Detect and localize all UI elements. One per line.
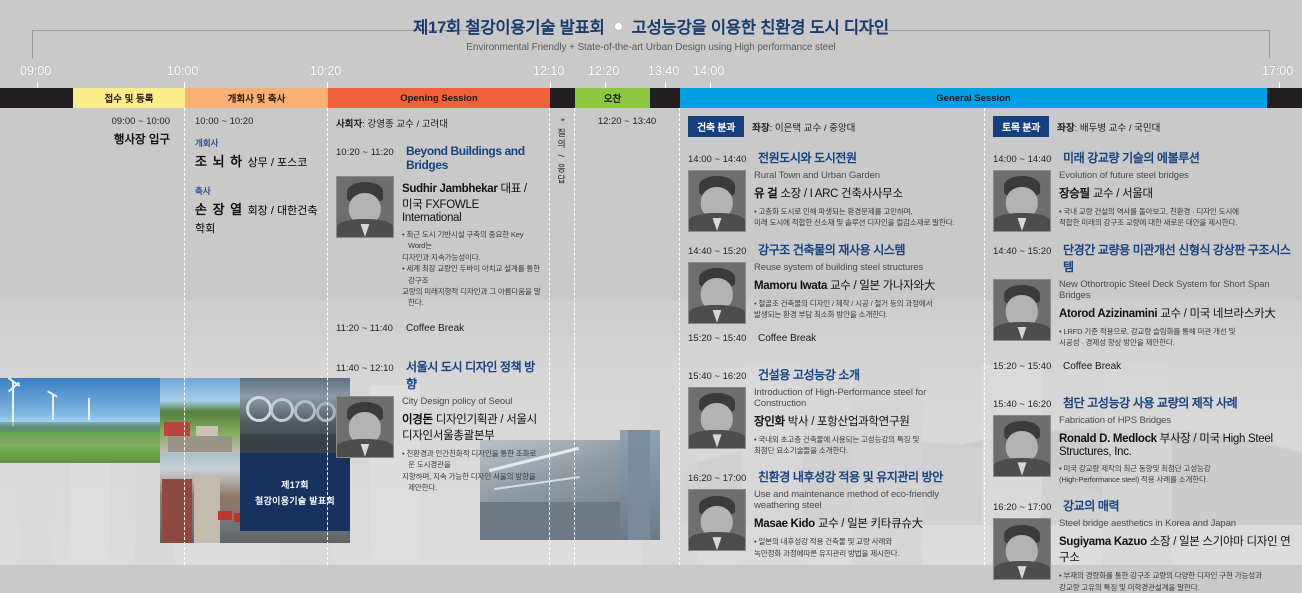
session-bullet: 교량의 미래지향적 디자인과 그 아름다움을 말한다. <box>402 286 541 309</box>
session-title-ko: Coffee Break <box>406 323 464 334</box>
opening-session-items: 10:20 ~ 11:20Beyond Buildings and Bridge… <box>336 144 541 493</box>
session-time: 11:40 ~ 12:10 <box>336 363 398 374</box>
session-item: 11:20 ~ 11:40Coffee Break <box>336 323 541 334</box>
speaker-affiliation: 미국 FXFOWLE International <box>402 196 541 224</box>
colorbar-segment-label: Opening Session <box>400 93 478 104</box>
session-bullet: • 세계 최장 교량인 두바이 아치교 설계를 통한 강구조 <box>402 263 541 286</box>
speaker-name: Sudhir Jambhekar <box>402 183 498 195</box>
civil-badge: 토목 분과 <box>993 116 1049 137</box>
column-registration: 09:00 ~ 10:00 행사장 입구 <box>0 108 185 565</box>
registration-time: 09:00 ~ 10:00 <box>0 116 170 127</box>
session-speaker: Mamoru Iwata 교수 / 일본 가나자와大 <box>754 277 978 293</box>
speaker-portrait <box>336 176 394 238</box>
remarks-item-1: 축사 손 장 열 회장 / 대한건축학회 <box>195 185 327 237</box>
lunch-time: 12:20 ~ 13:40 <box>575 116 679 127</box>
session-bullet: 최첨단 요소기술들을 소개한다. <box>754 445 978 456</box>
session-time: 16:20 ~ 17:00 <box>993 502 1055 513</box>
session-item: 14:40 ~ 15:20단경간 교량용 미관개선 신형식 강상판 구조시스템N… <box>993 241 1298 349</box>
session-colorbar: 접수 및 등록개회사 및 축사Opening Session오찬General … <box>0 88 1302 108</box>
column-opening-remarks: 10:00 ~ 10:20 개회사 조 뇌 하 상무 / 포스코 축사 손 장 … <box>185 108 328 565</box>
session-item: 15:20 ~ 15:40Coffee Break <box>993 361 1298 372</box>
colorbar-segment-label: General Session <box>936 93 1010 104</box>
session-speaker: Atorod Azizinamini 교수 / 미국 네브라스카大 <box>1059 305 1298 321</box>
session-bullet: 강교량 고유의 특징 및 미학경관설계을 말한다. <box>1059 582 1298 593</box>
title-second: 고성능강을 이용한 친환경 도시 디자인 <box>632 14 889 38</box>
session-title-ko: Coffee Break <box>1063 361 1121 372</box>
speaker-portrait <box>993 279 1051 341</box>
session-item: 11:40 ~ 12:10서울시 도시 디자인 정책 방향City Design… <box>336 358 541 494</box>
session-speaker: Masae Kido 교수 / 일본 키타큐슈大 <box>754 515 978 531</box>
session-speaker: 유 걸 소장 / I ARC 건축사사무소 <box>754 185 978 201</box>
session-item: 10:20 ~ 11:20Beyond Buildings and Bridge… <box>336 144 541 309</box>
ruler-tick-1400: 14:00 <box>693 64 724 78</box>
session-item: 16:20 ~ 17:00친환경 내후성강 적용 및 유지관리 방안Use an… <box>688 468 978 559</box>
remarks-role-0: 개회사 <box>195 137 327 149</box>
speaker-portrait <box>993 170 1051 232</box>
session-bullets: • 국내외 초고층 건축물에 사용되는 고성능강의 특징 및 최첨단 요소기술들… <box>754 434 978 457</box>
title-wrap: 제17회 철강이용기술 발표회 고성능강을 이용한 친환경 도시 디자인 Env… <box>0 14 1302 53</box>
session-title-en: Introduction of High-Performance steel f… <box>754 387 978 409</box>
session-title-en: Fabrication of HPS Bridges <box>1059 415 1298 426</box>
session-time: 16:20 ~ 17:00 <box>688 473 750 484</box>
speaker-name: 장승필 <box>1059 188 1090 200</box>
session-bullet: 시공성 · 경제성 향상 방안을 제안한다. <box>1059 337 1298 348</box>
speaker-name: 이경돈 <box>402 414 433 426</box>
session-bullet: 지향하며, 지속 가능한 디자인 서울의 방향을 제안한다. <box>402 471 541 494</box>
column-opening-session: 사회자: 강영종 교수 / 고려대 10:20 ~ 11:20Beyond Bu… <box>328 108 550 565</box>
speaker-title: 박사 / 포항산업과학연구원 <box>788 416 910 428</box>
session-item: 14:00 ~ 14:40전원도시와 도시전원Rural Town and Ur… <box>688 149 978 229</box>
speaker-name: Sugiyama Kazuo <box>1059 536 1147 548</box>
remarks-item-0: 개회사 조 뇌 하 상무 / 포스코 <box>195 137 327 171</box>
session-title-en: Rural Town and Urban Garden <box>754 170 978 181</box>
arch-chair: 좌장: 이은택 교수 / 중앙대 <box>752 120 855 134</box>
session-speaker: 장승필 교수 / 서울대 <box>1059 185 1298 201</box>
session-title-ko: 단경간 교량용 미관개선 신형식 강상판 구조시스템 <box>1063 241 1298 275</box>
time-ruler: 09:0010:0010:2012:1012:2013:4014:0017:00 <box>0 64 1302 88</box>
speaker-title: 교수 / 미국 네브라스카大 <box>1160 308 1275 320</box>
session-bullet: 미래 도시에 적합한 신소재 및 솔루션 디자인을 컬감소재로 말한다. <box>754 217 978 228</box>
qa-label: * 질의 / 응답 <box>556 118 568 186</box>
session-title-ko: 첨단 고성능강 사용 교량의 제작 사례 <box>1063 394 1237 411</box>
speaker-name: 유 걸 <box>754 188 777 200</box>
session-item: 15:40 ~ 16:20첨단 고성능강 사용 교량의 제작 사례Fabrica… <box>993 394 1298 486</box>
colorbar-segment-spacer-0 <box>0 88 73 108</box>
session-speaker: 장인화 박사 / 포항산업과학연구원 <box>754 413 978 429</box>
speaker-title: 교수 / 일본 가나자와大 <box>830 280 935 292</box>
colorbar-segment-label: 접수 및 등록 <box>105 91 154 105</box>
session-title-ko: Beyond Buildings and Bridges <box>406 144 541 172</box>
registration-label: 행사장 입구 <box>0 131 170 147</box>
session-title-ko: 서울시 도시 디자인 정책 방향 <box>406 358 541 392</box>
arch-badge: 건축 분과 <box>688 116 744 137</box>
session-bullet: 디자인과 지속가능성이다. <box>402 252 541 263</box>
remarks-title-0: 상무 / 포스코 <box>248 157 308 169</box>
session-time: 15:40 ~ 16:20 <box>993 399 1055 410</box>
ruler-tick-0900: 09:00 <box>20 64 51 78</box>
colorbar-segment-3: Opening Session <box>328 88 550 108</box>
speaker-portrait <box>993 415 1051 477</box>
civil-chair-value: : 배두병 교수 / 국민대 <box>1075 123 1161 134</box>
session-time: 11:20 ~ 11:40 <box>336 323 398 334</box>
speaker-name: Mamoru Iwata <box>754 280 827 292</box>
moderator-row: 사회자: 강영종 교수 / 고려대 <box>336 116 541 130</box>
session-bullet: • 미국 강교량 제작의 최근 동향및 최첨단 고성능강 <box>1059 463 1298 474</box>
speaker-portrait <box>336 396 394 458</box>
session-speaker: 이경돈 디자인기획관 / 서울시 디자인서울총괄본부 <box>402 411 541 443</box>
session-title-ko: Coffee Break <box>758 333 816 344</box>
speaker-title: 대표 / <box>500 183 526 195</box>
remarks-role-1: 축사 <box>195 185 327 197</box>
session-speaker: Sudhir Jambhekar 대표 / <box>402 180 541 196</box>
session-bullet: 발생되는 환경 부담 최소화 방안을 소개한다. <box>754 309 978 320</box>
session-item: 14:40 ~ 15:20강구조 건축물의 재사용 시스템Reuse syste… <box>688 241 978 321</box>
speaker-portrait <box>688 262 746 324</box>
session-bullet: • 철골조 건축물의 디자인 / 제작 / 시공 / 철거 등의 과정에서 <box>754 298 978 309</box>
session-bullet: • 부재의 경량화를 통한 강구조 교량의 다양한 디자인 구현 가능성과 <box>1059 570 1298 581</box>
session-bullets: • 철골조 건축물의 디자인 / 제작 / 시공 / 철거 등의 과정에서 발생… <box>754 298 978 321</box>
remarks-name-0: 조 뇌 하 <box>195 154 243 169</box>
session-bullets: • LRFD 기준 적용으로, 강교량 슬림화를 통해 미관 개선 및 시공성 … <box>1059 326 1298 349</box>
session-time: 15:40 ~ 16:20 <box>688 371 750 382</box>
speaker-portrait <box>688 170 746 232</box>
remarks-time: 10:00 ~ 10:20 <box>195 116 327 127</box>
session-title-en: Reuse system of building steel structure… <box>754 262 978 273</box>
column-architecture: 건축 분과 좌장: 이은택 교수 / 중앙대 14:00 ~ 14:40전원도시… <box>680 108 985 565</box>
civil-items: 14:00 ~ 14:40미래 강교량 기술의 에볼루션Evolution of… <box>993 149 1298 593</box>
session-title-ko: 미래 강교량 기술의 에볼루션 <box>1063 149 1199 166</box>
session-bullet: 녹안정화 과정에따른 유지관리 방법을 제시한다. <box>754 548 978 559</box>
speaker-portrait <box>688 489 746 551</box>
session-time: 14:00 ~ 14:40 <box>688 154 750 165</box>
page-title: 제17회 철강이용기술 발표회 고성능강을 이용한 친환경 도시 디자인 <box>413 14 889 38</box>
speaker-name: Masae Kido <box>754 518 815 530</box>
session-bullets: • 미국 강교량 제작의 최근 동향및 최첨단 고성능강 (High-Perfo… <box>1059 463 1298 486</box>
bullet-dot-icon <box>614 22 623 31</box>
session-speaker: Sugiyama Kazuo 소장 / 일본 스기야마 디자인 연구소 <box>1059 533 1298 565</box>
session-item: 14:00 ~ 14:40미래 강교량 기술의 에볼루션Evolution of… <box>993 149 1298 229</box>
session-title-en: Evolution of future steel bridges <box>1059 170 1298 181</box>
session-bullet: • 국내 교량 건설의 역사를 돌아보고, 친환경 · 디자인 도시에 <box>1059 206 1298 217</box>
colorbar-segment-spacer-8 <box>1267 88 1302 108</box>
session-item: 15:20 ~ 15:40Coffee Break <box>688 333 978 344</box>
session-time: 15:20 ~ 15:40 <box>993 361 1055 372</box>
colorbar-segment-2: 개회사 및 축사 <box>185 88 328 108</box>
civil-header: 토목 분과 좌장: 배두병 교수 / 국민대 <box>993 116 1298 137</box>
session-title-ko: 건설용 고성능강 소개 <box>758 366 860 383</box>
speaker-title: 소장 / I ARC 건축사사무소 <box>780 188 902 200</box>
ruler-tick-1220: 12:20 <box>588 64 619 78</box>
session-bullet: • 국내외 초고층 건축물에 사용되는 고성능강의 특징 및 <box>754 434 978 445</box>
ruler-tick-1700: 17:00 <box>1262 64 1293 78</box>
arch-header: 건축 분과 좌장: 이은택 교수 / 중앙대 <box>688 116 978 137</box>
ruler-tick-1210: 12:10 <box>533 64 564 78</box>
civil-chair-label: 좌장 <box>1057 123 1074 134</box>
civil-chair: 좌장: 배두병 교수 / 국민대 <box>1057 120 1160 134</box>
session-time: 10:20 ~ 11:20 <box>336 147 398 158</box>
session-bullets: • 부재의 경량화를 통한 강구조 교량의 다양한 디자인 구현 가능성과 강교… <box>1059 570 1298 593</box>
session-bullet: • 친환경과 인간친화적 디자인을 통한 조화로운 도시경관을 <box>402 448 541 471</box>
remarks-name-1: 손 장 열 <box>195 202 243 217</box>
moderator-value: : 강영종 교수 / 고려대 <box>362 119 448 130</box>
session-title-ko: 친환경 내후성강 적용 및 유지관리 방안 <box>758 468 943 485</box>
ruler-tick-1020: 10:20 <box>310 64 341 78</box>
session-bullet: (High-Performance steel) 적용 사례를 소개한다. <box>1059 474 1298 485</box>
colorbar-segment-spacer-6 <box>650 88 680 108</box>
session-time: 15:20 ~ 15:40 <box>688 333 750 344</box>
colorbar-segment-label: 개회사 및 축사 <box>228 91 286 105</box>
session-bullets: • 국내 교량 건설의 역사를 돌아보고, 친환경 · 디자인 도시에 적합한 … <box>1059 206 1298 229</box>
colorbar-segment-label: 오찬 <box>604 91 621 105</box>
speaker-portrait <box>688 387 746 449</box>
session-bullets: • 최근 도시 기반시설 구축의 중요한 Key Word는 디자인과 지속가능… <box>402 229 541 309</box>
session-title-en: Steel bridge aesthetics in Korea and Jap… <box>1059 518 1298 529</box>
colorbar-segment-spacer-4 <box>550 88 575 108</box>
page-subtitle: Environmental Friendly + State-of-the-ar… <box>0 42 1302 53</box>
column-lunch: 12:20 ~ 13:40 <box>575 108 680 565</box>
session-title-en: Use and maintenance method of eco-friend… <box>754 489 978 511</box>
session-time: 14:40 ~ 15:20 <box>688 246 750 257</box>
architecture-items: 14:00 ~ 14:40전원도시와 도시전원Rural Town and Ur… <box>688 149 978 559</box>
session-speaker: Ronald D. Medlock 부사장 / 미국 High Steel St… <box>1059 430 1298 458</box>
colorbar-segment-1: 접수 및 등록 <box>73 88 185 108</box>
session-bullets: • 친환경과 인간친화적 디자인을 통한 조화로운 도시경관을 지향하며, 지속… <box>402 448 541 494</box>
session-title-en: New Othortropic Steel Deck System for Sh… <box>1059 279 1298 301</box>
session-bullet: • 고층화 도시로 인해 파생되는 환경문제를 고민하며, <box>754 206 978 217</box>
session-item: 16:20 ~ 17:00강교의 매력Steel bridge aestheti… <box>993 497 1298 593</box>
ruler-tick-1000: 10:00 <box>167 64 198 78</box>
session-title-en: City Design policy of Seoul <box>402 396 541 407</box>
session-time: 14:00 ~ 14:40 <box>993 154 1055 165</box>
poster-header: 제17회 철강이용기술 발표회 고성능강을 이용한 친환경 도시 디자인 Env… <box>0 0 1302 62</box>
session-bullet: • 최근 도시 기반시설 구축의 중요한 Key Word는 <box>402 229 541 252</box>
arch-chair-label: 좌장 <box>752 123 769 134</box>
session-title-ko: 전원도시와 도시전원 <box>758 149 857 166</box>
schedule-columns: 09:00 ~ 10:00 행사장 입구 10:00 ~ 10:20 개회사 조… <box>0 108 1302 565</box>
session-title-ko: 강교의 매력 <box>1063 497 1119 514</box>
speaker-title: 교수 / 일본 키타큐슈大 <box>818 518 923 530</box>
session-title-ko: 강구조 건축물의 재사용 시스템 <box>758 241 905 258</box>
colorbar-segment-5: 오찬 <box>575 88 650 108</box>
session-time: 14:40 ~ 15:20 <box>993 246 1055 257</box>
session-bullets: • 고층화 도시로 인해 파생되는 환경문제를 고민하며, 미래 도시에 적합한… <box>754 206 978 229</box>
column-qa: * 질의 / 응답 <box>550 108 575 565</box>
session-bullet: • LRFD 기준 적용으로, 강교량 슬림화를 통해 미관 개선 및 <box>1059 326 1298 337</box>
speaker-title: 교수 / 서울대 <box>1093 188 1153 200</box>
session-item: 15:40 ~ 16:20건설용 고성능강 소개Introduction of … <box>688 366 978 457</box>
session-bullets: • 일본의 내후성강 적용 건축물 및 교량 사례와 녹안정화 과정에따른 유지… <box>754 536 978 559</box>
speaker-name: Ronald D. Medlock <box>1059 433 1157 445</box>
column-civil: 토목 분과 좌장: 배두병 교수 / 국민대 14:00 ~ 14:40미래 강… <box>985 108 1302 565</box>
colorbar-segment-7: General Session <box>680 88 1267 108</box>
ruler-tick-1340: 13:40 <box>648 64 679 78</box>
speaker-portrait <box>993 518 1051 580</box>
moderator-label: 사회자 <box>336 119 362 130</box>
session-bullet: • 일본의 내후성강 적용 건축물 및 교량 사례와 <box>754 536 978 547</box>
speaker-name: 장인화 <box>754 416 785 428</box>
session-bullet: 적합한 미래의 강구조 교량에 대한 새로운 대안을 제시한다. <box>1059 217 1298 228</box>
title-main: 제17회 철강이용기술 발표회 <box>413 14 605 38</box>
arch-chair-value: : 이은택 교수 / 중앙대 <box>770 123 856 134</box>
speaker-name: Atorod Azizinamini <box>1059 308 1157 320</box>
